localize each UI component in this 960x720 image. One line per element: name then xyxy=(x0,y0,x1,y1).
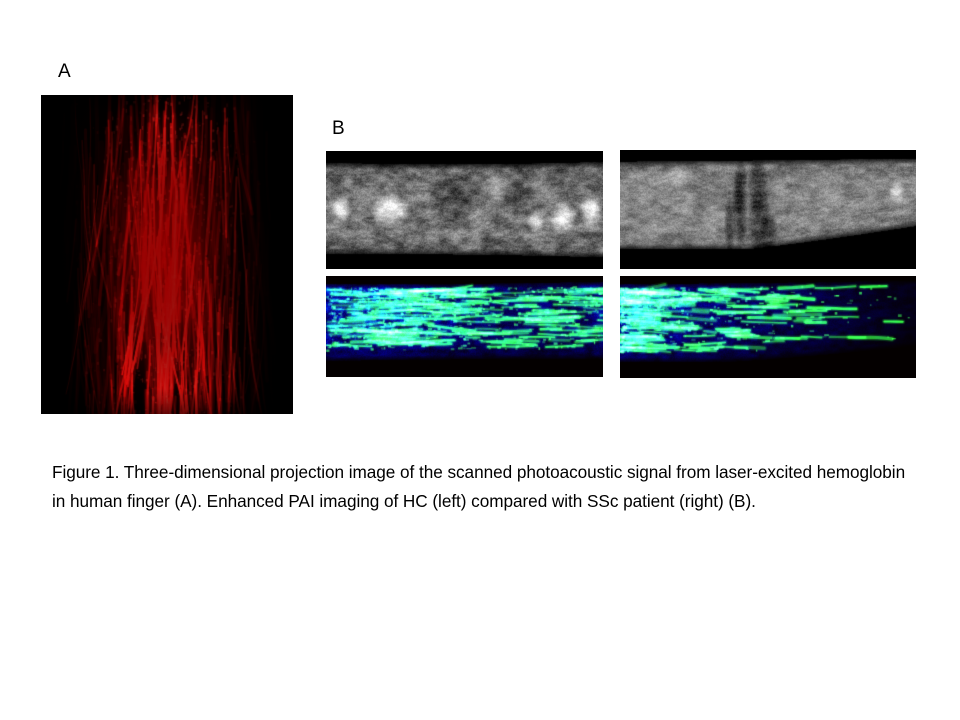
figure-caption: Figure 1. Three-dimensional projection i… xyxy=(52,458,918,516)
panel-a-vasculature-canvas xyxy=(41,95,293,414)
right-pai-canvas xyxy=(620,276,916,378)
panel-a-label: A xyxy=(58,62,71,81)
left-ultrasound-canvas xyxy=(326,151,603,269)
left-pai-canvas xyxy=(326,276,603,377)
panel-b-left-pai-image xyxy=(326,276,603,377)
panel-a-projection-image xyxy=(41,95,293,414)
figure-root: A B Figure 1. Three-dimensional projecti… xyxy=(0,0,960,720)
right-ultrasound-canvas xyxy=(620,150,916,269)
panel-b-right-pai-image xyxy=(620,276,916,378)
panel-b-right-ultrasound-image xyxy=(620,150,916,269)
panel-b-label: B xyxy=(332,119,345,138)
panel-b-left-ultrasound-image xyxy=(326,151,603,269)
